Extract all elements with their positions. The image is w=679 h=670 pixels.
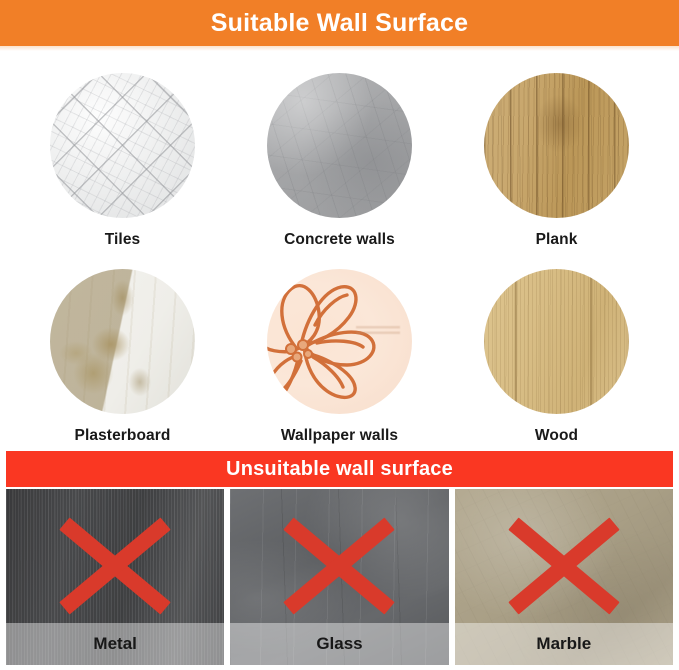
x-cross-icon (285, 516, 393, 616)
surface-item-wallpaper-walls: Wallpaper walls (247, 269, 433, 445)
plasterboard-texture-swatch (50, 269, 195, 414)
unsuitable-item-metal: Metal (6, 489, 224, 665)
suitable-row-2: Plasterboard (14, 269, 665, 445)
surface-label-plank: Plank (464, 231, 650, 249)
unsuitable-banner-wrap: Unsuitable wall surface (0, 451, 679, 487)
flower-illustration-icon (267, 269, 393, 414)
suitable-banner: Suitable Wall Surface (0, 0, 679, 46)
surface-label-tiles: Tiles (30, 231, 216, 249)
unsuitable-surfaces-section: Metal Glass Marble (0, 487, 679, 665)
surface-item-concrete-walls: Concrete walls (247, 73, 433, 249)
surface-label-wood: Wood (464, 427, 650, 445)
unsuitable-label-marble: Marble (455, 623, 673, 665)
suitable-surfaces-section: Tiles Concrete walls Plank Plasterboard (0, 51, 679, 451)
wallpaper-watermark (356, 315, 400, 341)
plank-texture-swatch (484, 73, 629, 218)
surface-item-plank: Plank (464, 73, 650, 249)
x-cross-icon (61, 516, 169, 616)
wallpaper-texture-swatch (267, 269, 412, 414)
surface-label-plasterboard: Plasterboard (30, 427, 216, 445)
surface-label-concrete-walls: Concrete walls (247, 231, 433, 249)
unsuitable-item-glass: Glass (230, 489, 448, 665)
surface-item-wood: Wood (464, 269, 650, 445)
surface-label-wallpaper-walls: Wallpaper walls (247, 427, 433, 445)
suitable-row-1: Tiles Concrete walls Plank (14, 73, 665, 249)
unsuitable-label-glass: Glass (230, 623, 448, 665)
unsuitable-label-metal: Metal (6, 623, 224, 665)
x-cross-icon (510, 516, 618, 616)
unsuitable-item-marble: Marble (455, 489, 673, 665)
surface-item-tiles: Tiles (30, 73, 216, 249)
surface-item-plasterboard: Plasterboard (30, 269, 216, 445)
unsuitable-banner: Unsuitable wall surface (6, 451, 673, 487)
tiles-texture-swatch (50, 73, 195, 218)
concrete-texture-swatch (267, 73, 412, 218)
wood-texture-swatch (484, 269, 629, 414)
